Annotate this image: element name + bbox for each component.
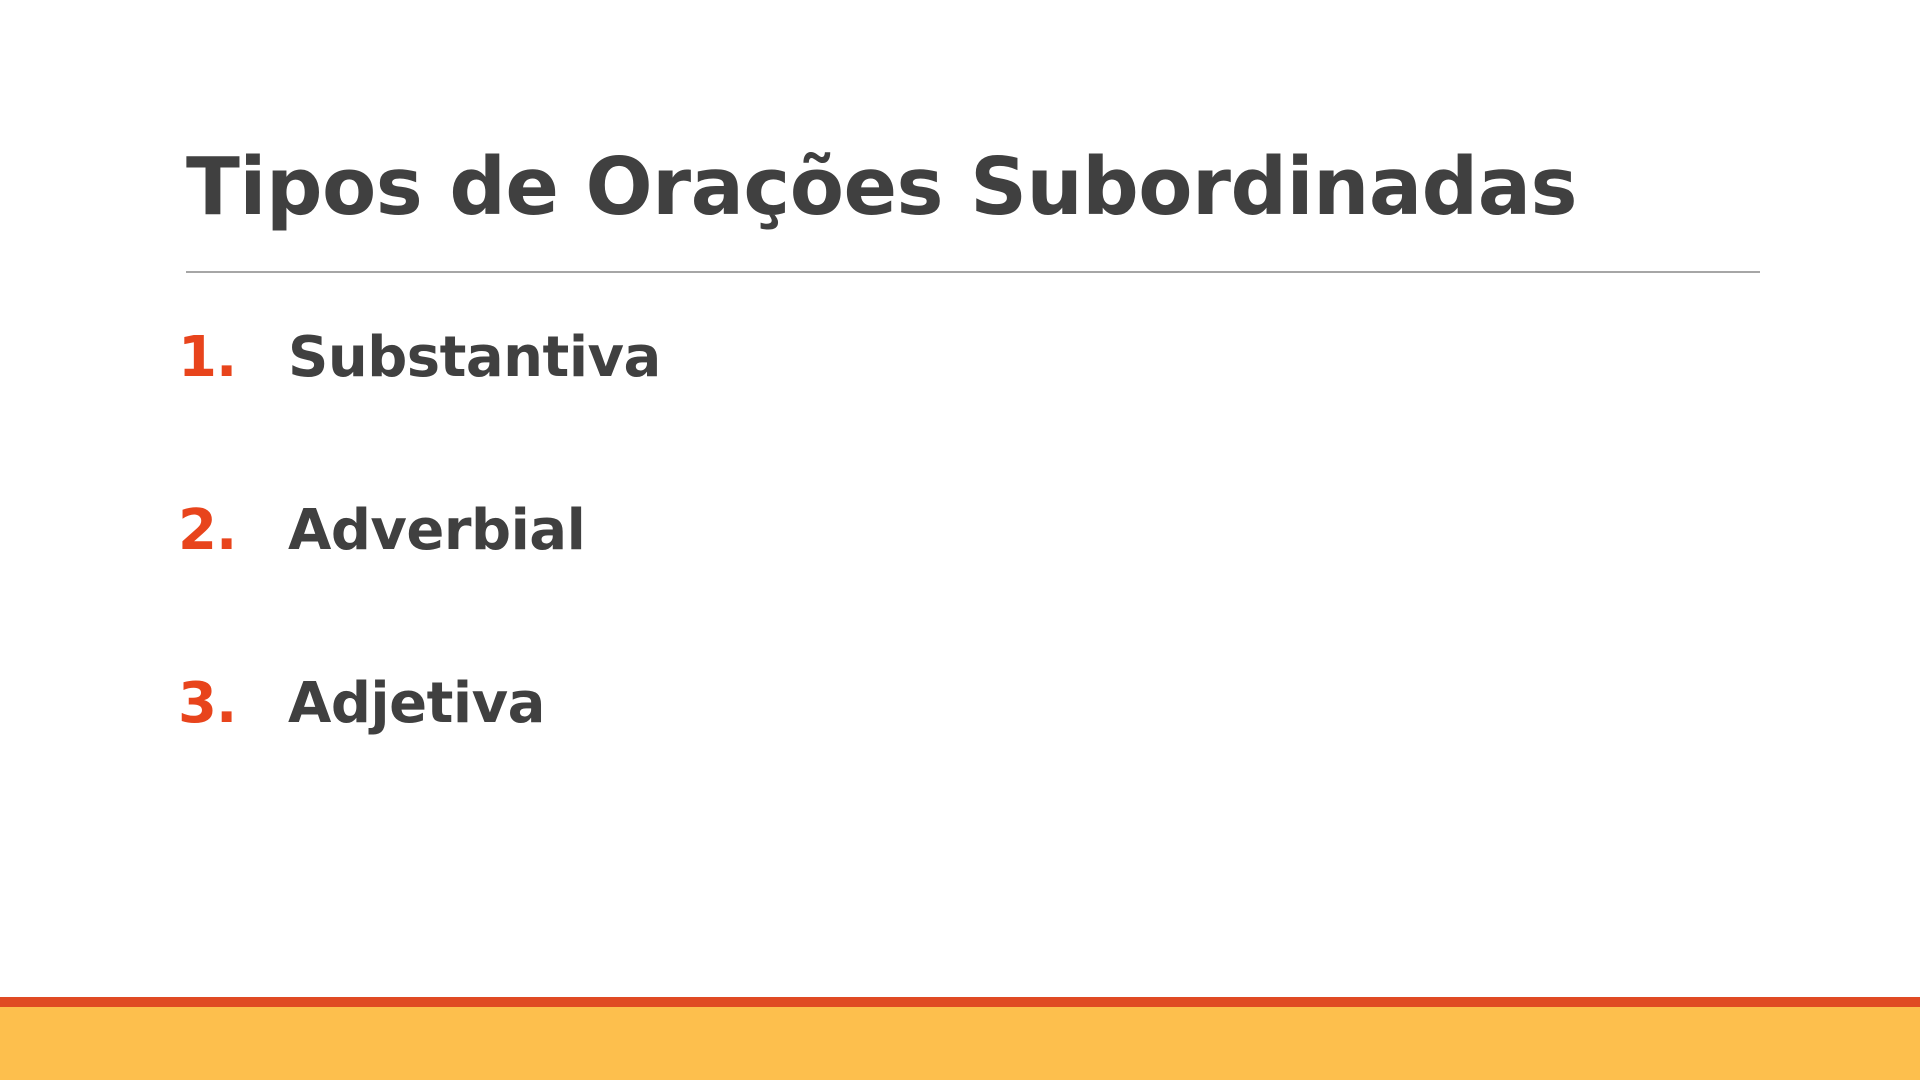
list-item: 1. Substantiva — [178, 330, 1778, 503]
page-title: Tipos de Orações Subordinadas — [186, 146, 1766, 230]
list-item-label: Substantiva — [288, 330, 661, 386]
list-item-number: 3. — [178, 676, 288, 732]
numbered-list: 1. Substantiva 2. Adverbial 3. Adjetiva — [178, 330, 1778, 849]
list-item: 3. Adjetiva — [178, 676, 1778, 849]
list-item-label: Adverbial — [288, 503, 585, 559]
list-item: 2. Adverbial — [178, 503, 1778, 676]
list-item-number: 2. — [178, 503, 288, 559]
list-item-number: 1. — [178, 330, 288, 386]
list-item-label: Adjetiva — [288, 676, 545, 732]
title-underline-rule — [186, 271, 1760, 273]
footer-band — [0, 1007, 1920, 1080]
footer-accent-stripe — [0, 997, 1920, 1007]
title-block: Tipos de Orações Subordinadas — [186, 146, 1766, 230]
slide-canvas: Tipos de Orações Subordinadas 1. Substan… — [0, 0, 1920, 1080]
